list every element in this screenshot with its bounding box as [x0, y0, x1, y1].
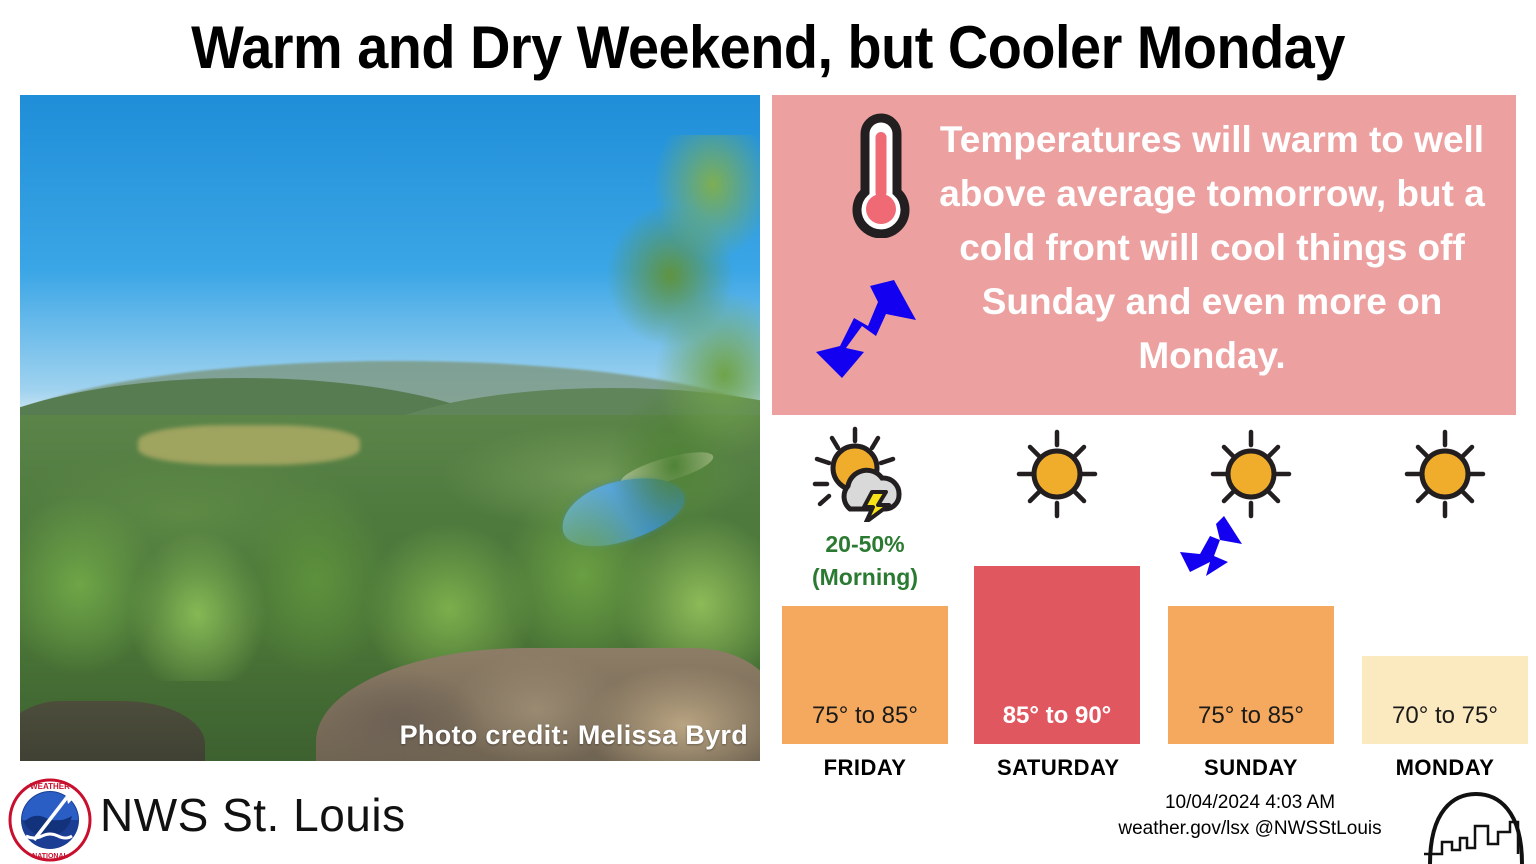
nws-office-name: NWS St. Louis [100, 788, 406, 842]
cold-front-arrow-icon [806, 274, 924, 384]
temp-bar-monday: 70° to 75° [1362, 656, 1528, 744]
footer-links: weather.gov/lsx @NWSStLouis [1090, 816, 1410, 842]
svg-text:NATIONAL: NATIONAL [32, 853, 68, 860]
temp-range-monday: 70° to 75° [1362, 702, 1528, 730]
sun-icon [1390, 426, 1500, 522]
day-label-monday: MONDAY [1385, 753, 1505, 782]
day-label-sunday: SUNDAY [1191, 753, 1311, 782]
forecast-day-monday[interactable]: 70° to 75° MONDAY [1352, 420, 1536, 780]
day-label-saturday: SATURDAY [997, 753, 1117, 782]
temp-range-saturday: 85° to 90° [974, 702, 1140, 730]
forecast-day-saturday[interactable]: 85° to 90° SATURDAY [964, 420, 1150, 780]
page-title: Warm and Dry Weekend, but Cooler Monday [54, 6, 1482, 90]
thermometer-icon [838, 112, 924, 238]
sun-icon [1196, 426, 1306, 522]
message-text: Temperatures will warm to well above ave… [922, 113, 1502, 383]
svg-text:WEATHER: WEATHER [30, 782, 70, 791]
photo-credit-text: Photo credit: Melissa Byrd [400, 720, 748, 751]
cold-front-arrow-icon [1176, 514, 1248, 596]
temp-bar-sunday: 75° to 85° [1168, 606, 1334, 744]
sun-icon [1002, 426, 1112, 522]
nws-seal-logo: WEATHER NATIONAL [8, 778, 92, 862]
temp-range-friday: 75° to 85° [782, 702, 948, 730]
temp-bar-saturday: 85° to 90° [974, 566, 1140, 744]
temp-range-sunday: 75° to 85° [1168, 702, 1334, 730]
gateway-arch-skyline-logo [1420, 792, 1532, 864]
forecast-day-friday[interactable]: 20-50% (Morning) 75° to 85° FRIDAY [772, 420, 958, 780]
photo-right-tree [597, 135, 760, 548]
precip-percent: 20-50% [772, 528, 958, 561]
precip-chance-friday: 20-50% (Morning) [772, 528, 958, 594]
forecast-row: 20-50% (Morning) 75° to 85° FRIDAY [772, 420, 1516, 780]
precip-timing: (Morning) [772, 561, 958, 594]
day-label-friday: FRIDAY [805, 753, 925, 782]
sun-cloud-thunderstorm-icon [810, 426, 920, 522]
forecast-day-sunday[interactable]: 75° to 85° SUNDAY [1158, 420, 1344, 780]
footer-meta: 10/04/2024 4:03 AM weather.gov/lsx @NWSS… [1090, 790, 1410, 842]
issued-timestamp: 10/04/2024 4:03 AM [1090, 790, 1410, 816]
scenery-photo: Photo credit: Melissa Byrd [20, 95, 760, 761]
temp-bar-friday: 75° to 85° [782, 606, 948, 744]
